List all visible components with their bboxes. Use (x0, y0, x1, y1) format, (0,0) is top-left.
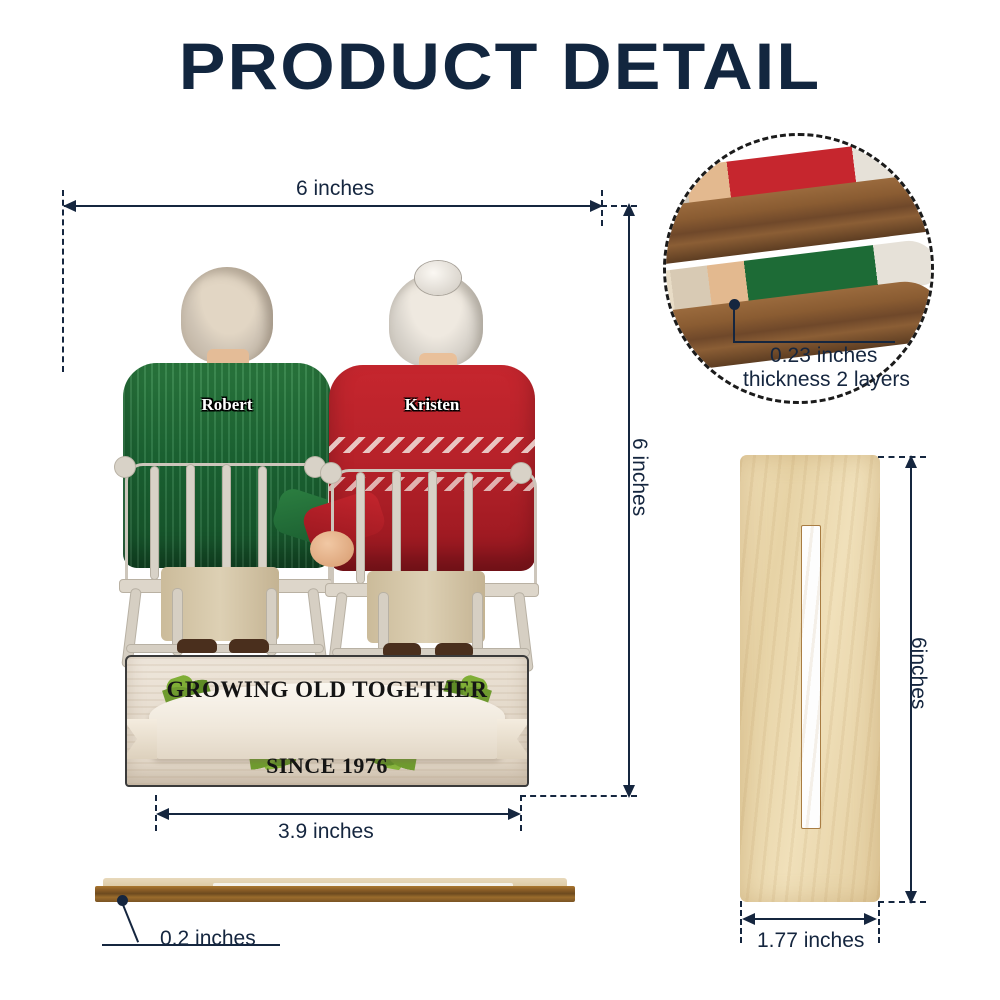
chair-spindle (393, 471, 400, 583)
kristen-hair-bun (415, 261, 461, 295)
plate-height-arrow-bottom (905, 891, 917, 904)
base-dim-line (158, 813, 519, 815)
base-plaque: GROWING OLD TOGETHER SINCE 1976 (125, 655, 529, 787)
plate-width-label: 1.77 inches (757, 929, 864, 953)
plate-height-arrow-top (905, 455, 917, 468)
plate-width-dim-line (744, 918, 875, 920)
stand-plate-slot (801, 525, 821, 829)
chair-knob-left (321, 463, 341, 483)
stand-plate (740, 455, 880, 902)
plate-height-extension-top (878, 456, 926, 458)
chair-spindle (223, 465, 230, 579)
thickness-leader-line-vertical (733, 308, 735, 342)
thickness-label-line-1: 0.23 inches (770, 344, 877, 368)
top-dim-arrow-left (63, 200, 76, 212)
chair-spindle (259, 467, 266, 579)
robert-name-label: Robert (123, 395, 331, 415)
product-illustration: Robert (95, 215, 565, 795)
base-dim-arrow-left (156, 808, 169, 820)
robert-shoe-left (177, 639, 217, 653)
chair-spindle (151, 467, 158, 579)
thickness-02-leader-line-diagonal (120, 899, 139, 942)
right-dim-arrow-top (623, 203, 635, 216)
thickness-label-line-2: thickness 2 layers (743, 368, 910, 392)
chair-spindle (465, 473, 472, 583)
plate-width-arrow-left (742, 913, 755, 925)
base-dim-label: 3.9 inches (278, 820, 374, 844)
held-hands (310, 531, 354, 567)
plate-height-label: 6inches (906, 637, 930, 709)
kristen-sweater-chevron (329, 437, 535, 453)
figure-robert: Robert (115, 267, 325, 597)
right-dim-label: 6 inches (627, 438, 651, 516)
product-detail-sheet: PRODUCT DETAIL 6 inches 6 inches 3.9 inc… (0, 0, 1000, 1000)
plaque-line-2: SINCE 1976 (127, 753, 527, 779)
right-dim-extension-bottom (520, 795, 637, 797)
top-dim-label: 6 inches (296, 177, 374, 201)
chair-knob-right (511, 463, 531, 483)
page-title: PRODUCT DETAIL (0, 28, 1000, 104)
chair-rung (127, 645, 323, 652)
plaque-line-1: GROWING OLD TOGETHER (127, 677, 527, 703)
thickness-02-label: 0.2 inches (160, 927, 256, 951)
base-plate-edge (95, 886, 575, 902)
robert-shoe-right (229, 639, 269, 653)
top-dim-line (64, 205, 601, 207)
plate-height-extension-bottom (878, 901, 926, 903)
chair-spindle (187, 465, 194, 579)
plate-width-arrow-right (864, 913, 877, 925)
chair-leg (473, 593, 482, 657)
base-plate-edge-view (95, 878, 575, 904)
thickness-leader-line-horizontal (733, 341, 895, 343)
top-dim-extension-left (62, 190, 64, 372)
base-dim-arrow-right (508, 808, 521, 820)
chair-spindle (357, 473, 364, 583)
right-dim-arrow-bottom (623, 785, 635, 798)
figure-kristen: Kristen (323, 273, 533, 597)
plate-width-extension-right (878, 901, 880, 943)
chair-spindle (429, 471, 436, 583)
chair-knob-left (115, 457, 135, 477)
kristen-name-label: Kristen (329, 395, 535, 415)
